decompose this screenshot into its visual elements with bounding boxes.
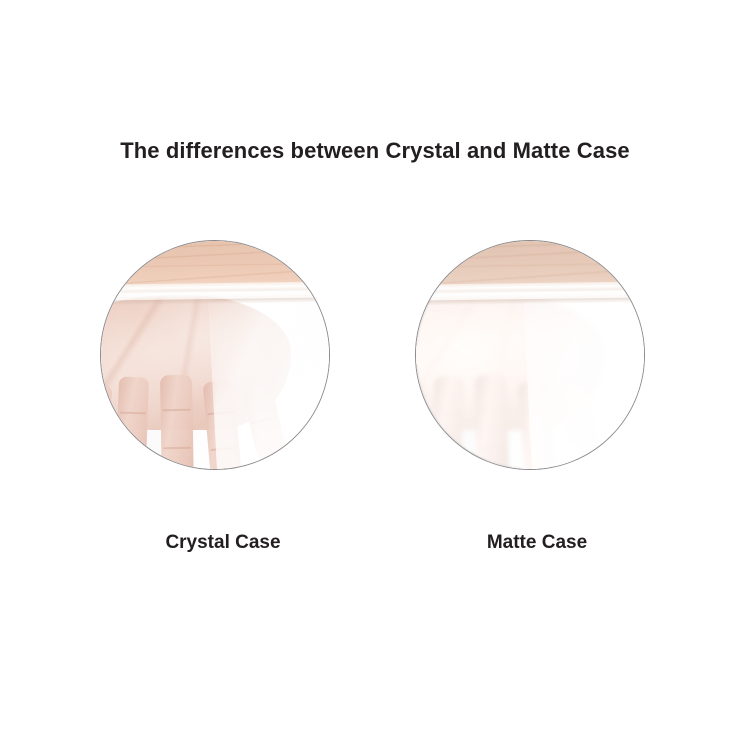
matte-case-photo-inset (415, 240, 645, 470)
crystal-case-caption: Crystal Case (108, 532, 338, 554)
case-surface-overlay (208, 292, 330, 470)
crystal-case-scene (100, 240, 330, 470)
crystal-case-photo-inset (100, 240, 330, 470)
page-title: The differences between Crystal and Matt… (0, 138, 750, 164)
product-comparison-graphic: The differences between Crystal and Matt… (0, 0, 750, 750)
finger (160, 375, 194, 470)
matte-case-scene (415, 240, 645, 470)
case-surface-overlay (523, 292, 645, 470)
matte-case-caption: Matte Case (422, 532, 652, 554)
finger (115, 377, 149, 470)
